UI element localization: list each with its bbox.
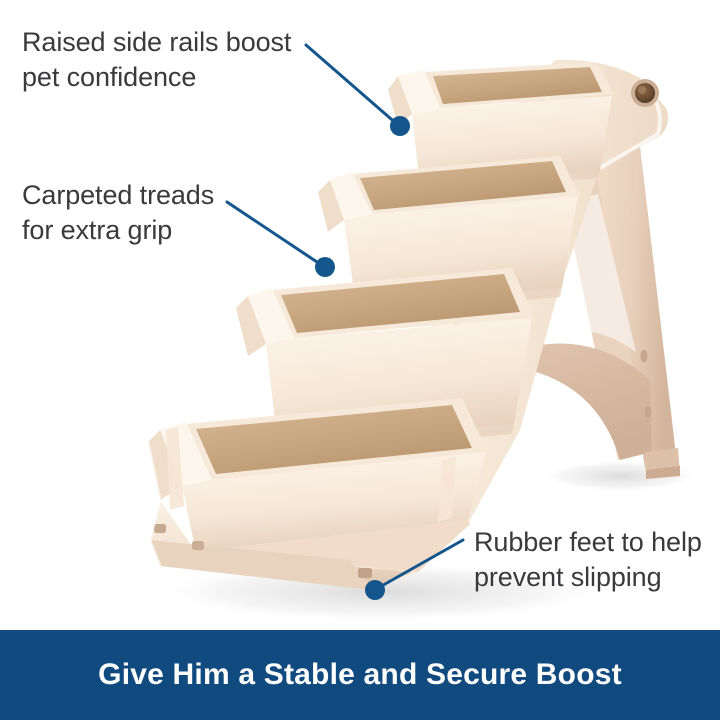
rubber-foot-left (154, 524, 166, 533)
callout-label-raised-side-rails: Raised side rails boost pet confidence (22, 25, 291, 94)
callout-label-carpeted-treads: Carpeted treads for extra grip (22, 178, 214, 247)
infographic-page: Raised side rails boost pet confidence C… (0, 0, 720, 720)
hinge-pivot-screw (631, 79, 659, 107)
rubber-foot-front (358, 568, 372, 578)
banner-headline: Give Him a Stable and Secure Boost (98, 658, 622, 692)
bottom-banner: Give Him a Stable and Secure Boost (0, 630, 720, 720)
rubber-foot-mid (192, 541, 204, 550)
product-image (0, 0, 720, 720)
callout-label-rubber-feet: Rubber feet to help prevent slipping (474, 525, 702, 594)
